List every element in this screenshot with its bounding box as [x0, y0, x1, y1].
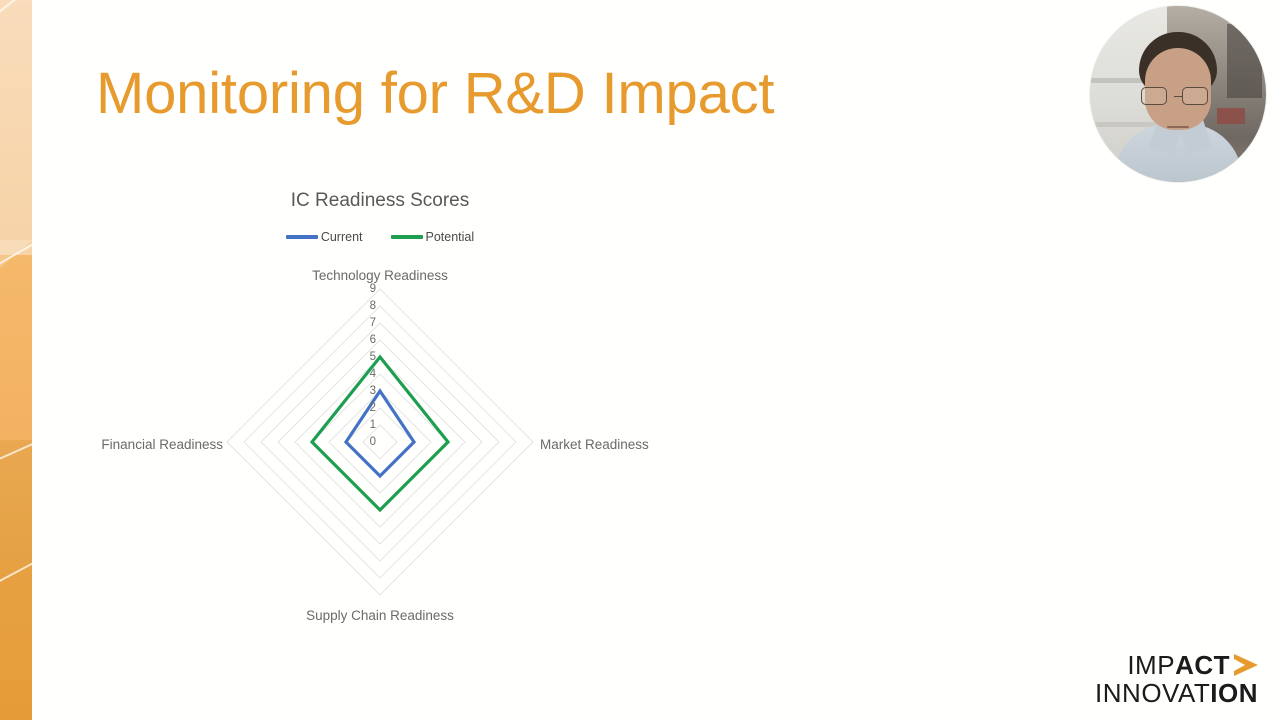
glasses-icon [1182, 87, 1208, 105]
radial-tick-label: 7 [354, 317, 376, 329]
logo-line-impact: IMPACT [1095, 652, 1258, 678]
presenter-mouth [1167, 126, 1189, 129]
gridline-ring [312, 374, 448, 510]
radial-tick-label: 0 [354, 436, 376, 448]
logo-line-innovation: INNOVATION [1095, 680, 1258, 706]
glasses-bridge [1174, 96, 1182, 98]
legend-item-potential: Potential [391, 230, 475, 244]
axis-label-market-readiness: Market Readiness [540, 437, 649, 452]
band-segment-bottom [0, 565, 32, 720]
legend-swatch-potential [391, 235, 423, 238]
axis-label-supply-chain-readiness: Supply Chain Readiness [306, 608, 454, 623]
video-dark-area [1227, 24, 1262, 98]
radar-gridlines [227, 289, 533, 595]
video-red-object [1217, 108, 1245, 124]
decorative-orange-band [0, 0, 32, 720]
radial-tick-label: 2 [354, 402, 376, 414]
logo-impact-bold: ACT [1175, 652, 1230, 678]
radar-plot-area: Technology Readiness Market Readiness Su… [60, 252, 700, 647]
band-segment-upper-mid [0, 255, 32, 440]
logo-innovation-bold: ION [1210, 678, 1258, 708]
logo-impact-light: IMP [1127, 652, 1175, 678]
chart-title: IC Readiness Scores [60, 190, 700, 212]
radial-tick-label: 5 [354, 351, 376, 363]
axis-label-financial-readiness: Financial Readiness [101, 437, 223, 452]
radial-tick-label: 1 [354, 419, 376, 431]
radial-tick-label: 8 [354, 300, 376, 312]
arrow-icon [1234, 654, 1258, 676]
legend-label-potential: Potential [426, 230, 475, 244]
radial-tick-label: 6 [354, 334, 376, 346]
axis-label-technology-readiness: Technology Readiness [312, 268, 448, 283]
slide-title: Monitoring for R&D Impact [96, 62, 774, 127]
logo-innovation-light: INNOVAT [1095, 678, 1210, 708]
chart-legend: Current Potential [60, 230, 700, 244]
band-segment-lower-mid [0, 440, 32, 565]
radar-series-potential [312, 357, 448, 510]
radial-tick-label: 9 [354, 283, 376, 295]
radar-chart: IC Readiness Scores Current Potential Te… [60, 190, 700, 650]
presenter-video-bubble [1090, 6, 1266, 182]
band-segment-top [0, 0, 32, 255]
company-logo: IMPACT INNOVATION [1095, 652, 1258, 706]
legend-label-current: Current [321, 230, 363, 244]
radial-tick-label: 4 [354, 368, 376, 380]
gridline-ring [244, 306, 516, 578]
gridline-ring [227, 289, 533, 595]
gridline-ring [278, 340, 482, 544]
glasses-icon [1141, 87, 1167, 105]
legend-item-current: Current [286, 230, 363, 244]
radar-series [312, 357, 448, 510]
legend-swatch-current [286, 235, 318, 238]
radial-tick-label: 3 [354, 385, 376, 397]
